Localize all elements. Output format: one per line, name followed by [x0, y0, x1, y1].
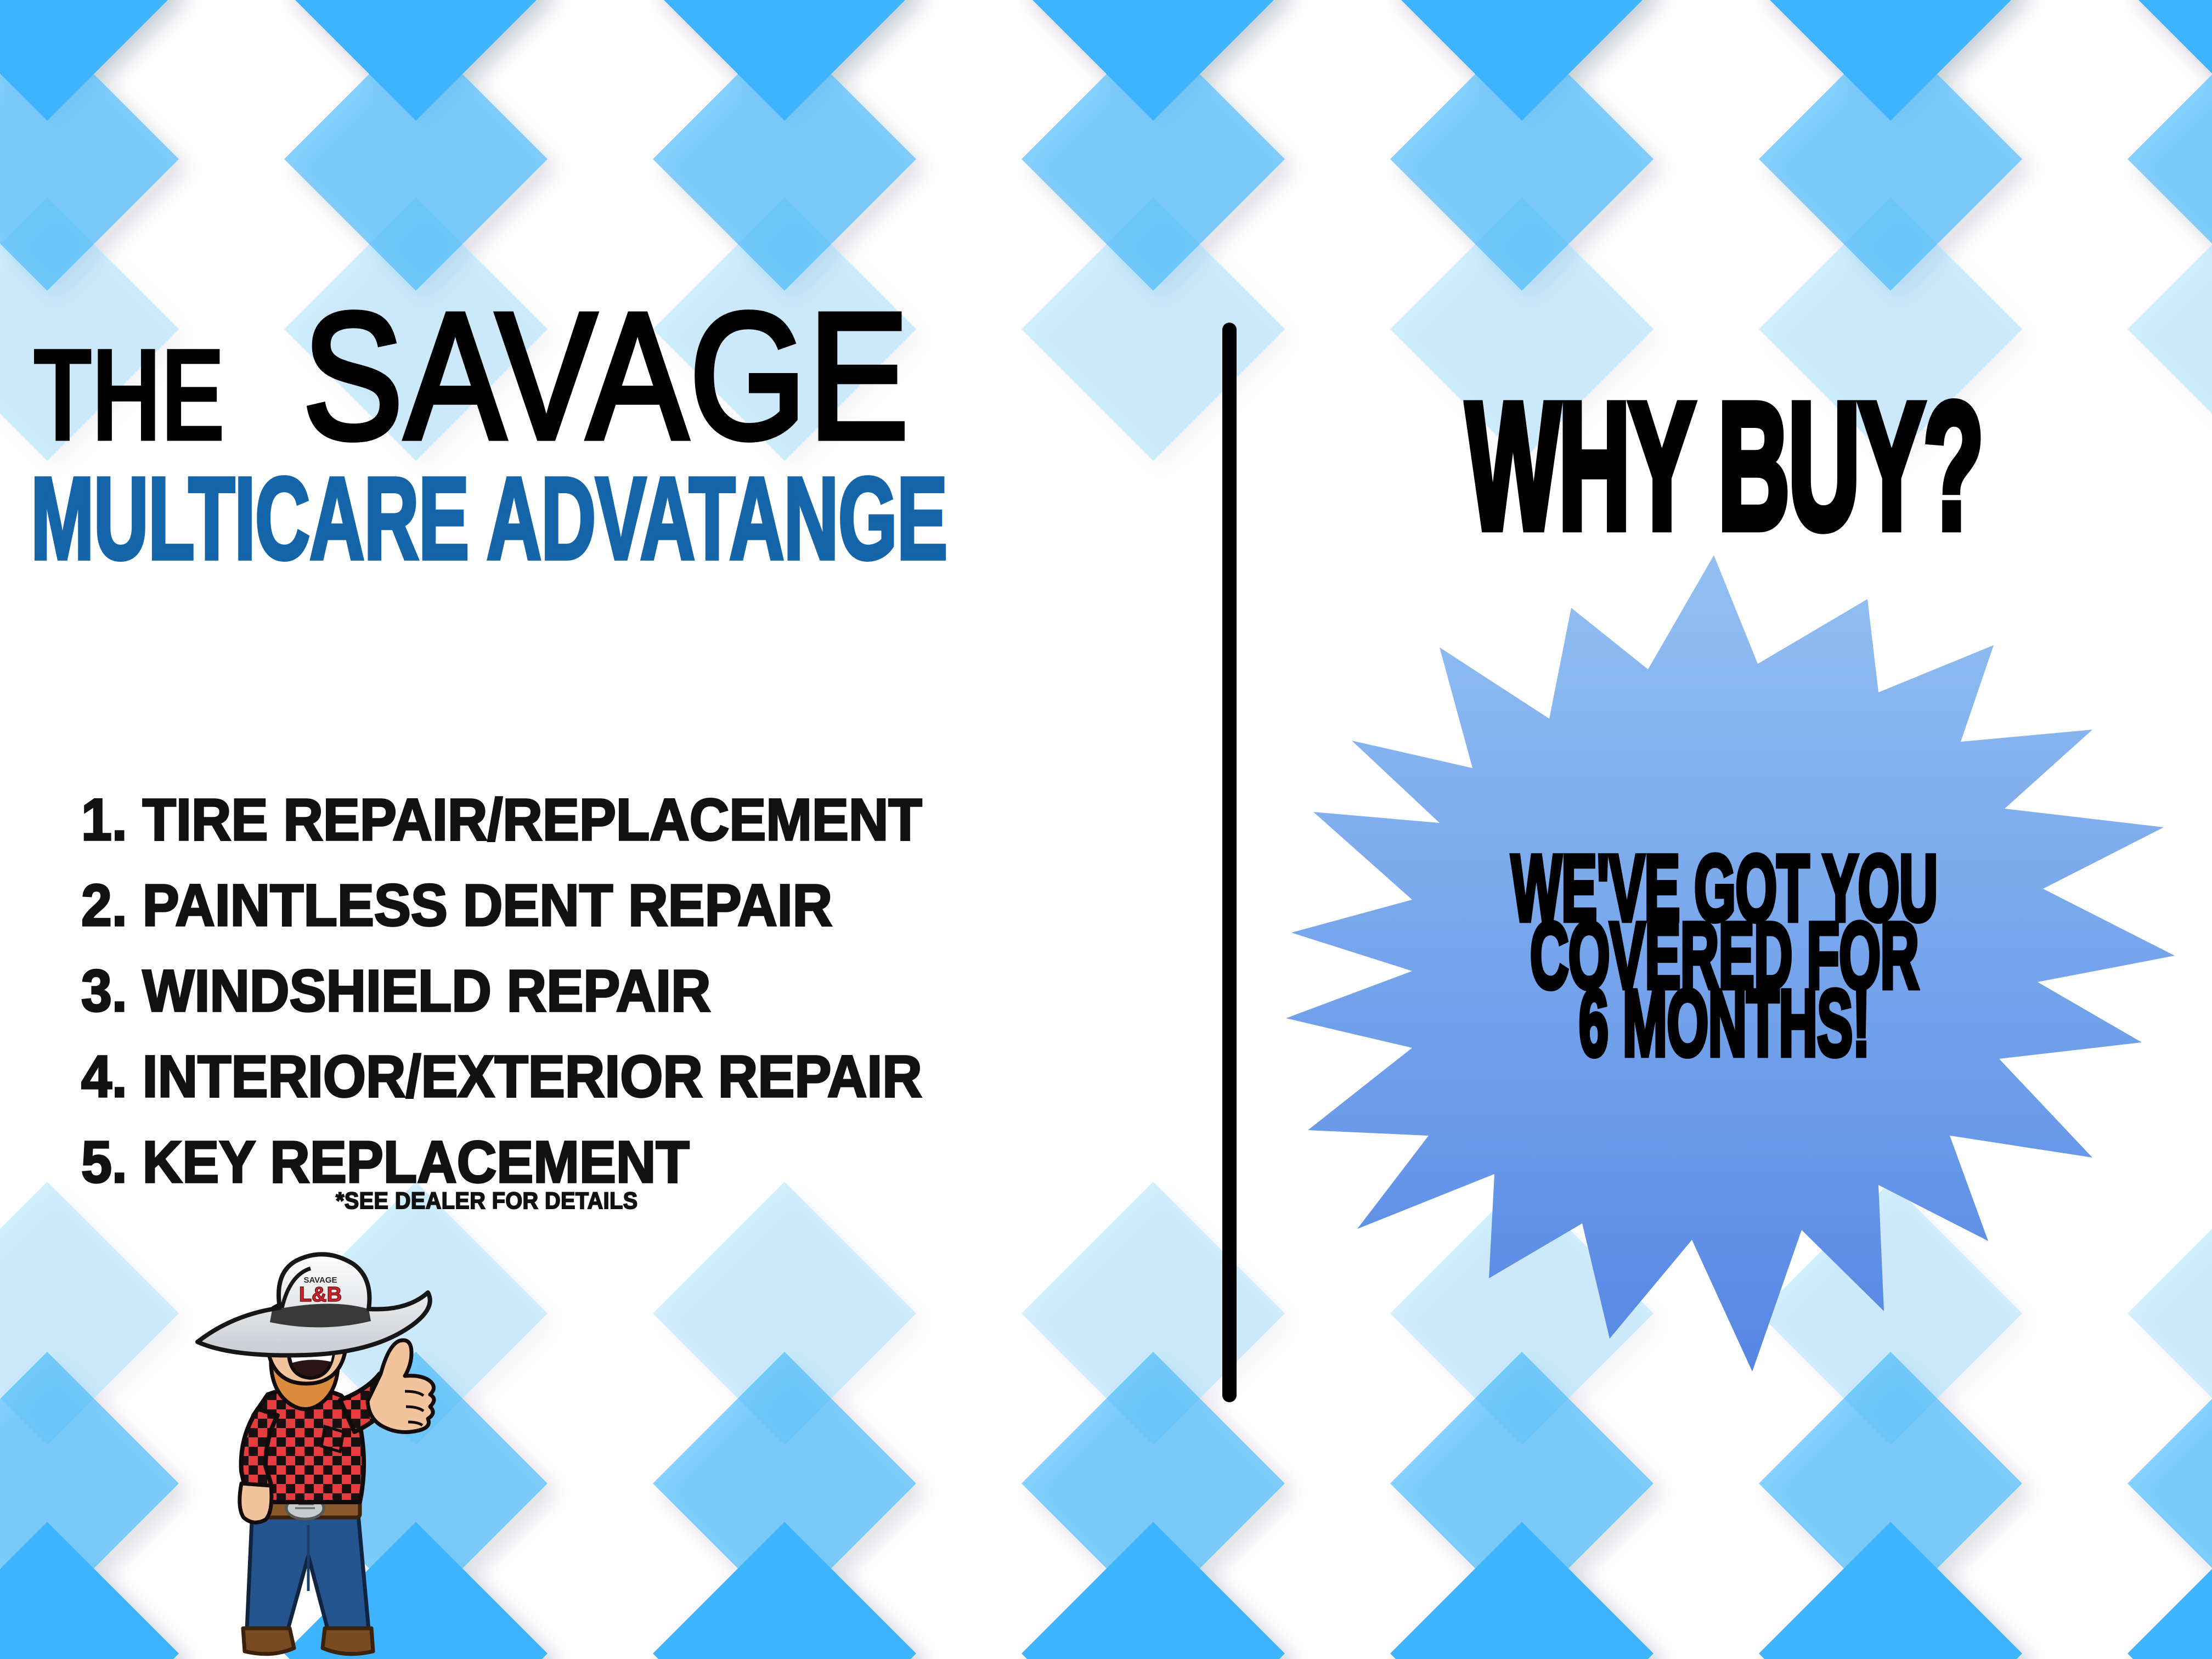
hat-logo-lb: L&B [299, 1283, 342, 1306]
mascot-hat-logo: SAVAGE L&B [299, 1276, 342, 1306]
savage-wordmark: SAVAGE [303, 303, 911, 450]
list-item: 4. INTERIOR/EXTERIOR REPAIR [81, 1047, 922, 1106]
mascot-boot-left [243, 1628, 294, 1654]
why-buy-heading: WHY BUY? [1466, 384, 1982, 549]
disclaimer-text: *SEE DEALER FOR DETAILS [336, 1188, 638, 1215]
mascot-thumbs-up-hand [368, 1340, 434, 1432]
right-panel: WHY BUY? WE'VE GOT YOU COVERED FOR 6 MON… [1237, 0, 2212, 1659]
cowboy-mascot-icon: SAVAGE L&B [165, 1251, 450, 1659]
the-word: THE [33, 340, 224, 449]
list-item: 2. PAINTLESS DENT REPAIR [81, 876, 922, 935]
left-panel: THE SAVAGE MULTICARE ADVATANGE 1. TIRE R… [0, 0, 1222, 1659]
service-list: 1. TIRE REPAIR/REPLACEMENT 2. PAINTLESS … [81, 790, 985, 1218]
mascot-hand-left [240, 1483, 272, 1522]
vertical-divider [1222, 323, 1237, 1402]
starburst-text: WE'VE GOT YOU COVERED FOR 6 MONTHS! [1237, 845, 2212, 1047]
list-item: 5. KEY REPLACEMENT [81, 1132, 922, 1192]
brand-headline: THE SAVAGE [33, 329, 899, 450]
promo-poster: THE SAVAGE MULTICARE ADVATANGE 1. TIRE R… [0, 0, 2212, 1659]
list-item: 3. WINDSHIELD REPAIR [81, 961, 922, 1020]
burst-line: 6 MONTHS! [1363, 980, 2085, 1068]
program-name: MULTICARE ADVATANGE [31, 460, 947, 577]
mascot-boot-right [323, 1628, 373, 1654]
list-item: 1. TIRE REPAIR/REPLACEMENT [81, 790, 922, 849]
